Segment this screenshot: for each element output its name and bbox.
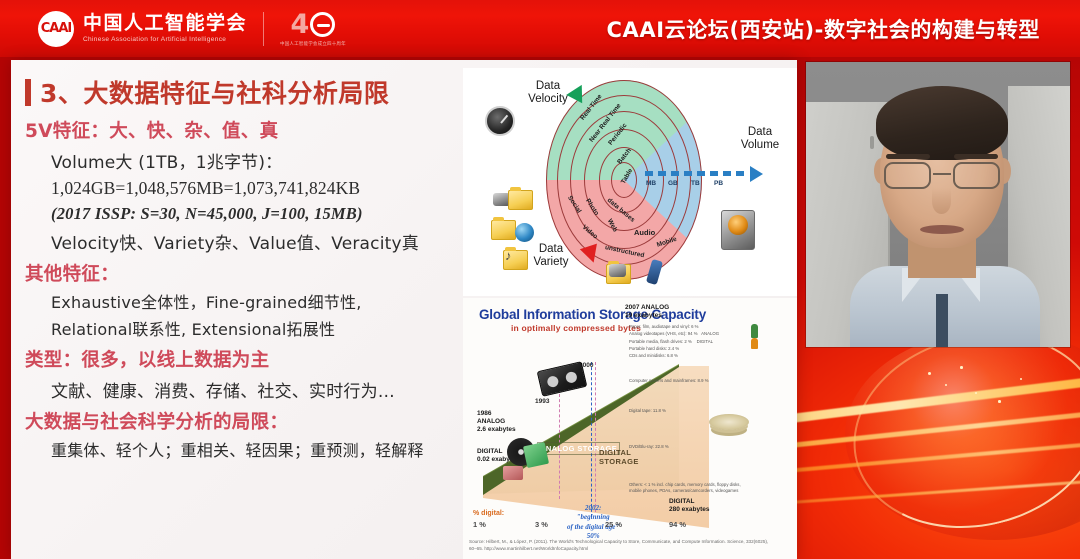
legend-item: Portable hard disks: 2.4 % (629, 346, 679, 351)
volume-dash (645, 171, 653, 176)
sparkle (1020, 378, 1022, 380)
annotation-1993: 1993 (535, 398, 549, 406)
legend-item: Portable media, flash drives: 2 % DIGITA… (629, 339, 713, 344)
sparkle (945, 384, 947, 386)
speaker-shirt-placket (936, 294, 948, 347)
speaker-glasses (882, 162, 1002, 190)
percent-value-2007: 94 % (669, 520, 686, 529)
storage-chart-title: Global Information Storage Capacity (479, 307, 706, 322)
slide-line-exhaustive: Exhaustive全体性，Fine-grained细节性, (51, 289, 457, 313)
anniversary-subtitle: 中国人工智能学会成立四十周年 (280, 41, 346, 47)
hard-disk-icon (721, 210, 755, 250)
floppy-disk-icon (523, 442, 549, 468)
percent-value-1993: 3 % (535, 520, 548, 529)
speaker-mouth (920, 225, 964, 234)
volume-tick-tb: TB (691, 180, 700, 187)
globe-icon (515, 223, 534, 242)
legend-item: Paper, film, audiotape and vinyl: 6 % (629, 324, 699, 329)
sparkle (998, 400, 1001, 403)
slide-line-bytes: 1,024GB=1,048,576MB=1,073,741,824KB (51, 178, 457, 199)
sparkle (975, 392, 977, 394)
slide-line-limits-detail: 重集体、轻个人；重相关、轻因果；重预测，轻解释 (51, 437, 457, 461)
caai-emblem-icon: CAAI (38, 11, 74, 47)
percent-value-2000: 25 % (605, 520, 622, 529)
slide-heading-5v: 5V特征：大、快、杂、值、真 (25, 117, 457, 143)
folder-icon (508, 190, 533, 210)
legend-item: Computer servers and mainframes: 8.9 % (629, 378, 709, 383)
slide-line-type-examples: 文献、健康、消费、存储、社交、实时行为… (51, 377, 457, 402)
broadcast-stage: CAAI 中国人工智能学会 Chinese Association for Ar… (0, 0, 1080, 559)
chart-source-note: Source: Hilbert, M., & López, P. (2011).… (469, 539, 769, 553)
glasses-bridge (933, 173, 951, 175)
digital-person-icon (751, 338, 758, 349)
analog-peak-marker-line (595, 362, 596, 512)
slide-line-5v-terms: Velocity快、Variety杂、Value值、Veracity真 (51, 229, 457, 254)
percent-value-1986: 1 % (473, 520, 486, 529)
volume-dash (723, 171, 731, 176)
speaker-hair (876, 86, 1008, 160)
axis-label-data-volume: DataVolume (725, 126, 795, 152)
top-header-bar: CAAI 中国人工智能学会 Chinese Association for Ar… (0, 0, 1080, 57)
storage-capacity-chart: Global Information Storage Capacity in o… (463, 298, 797, 559)
caai-logo: CAAI 中国人工智能学会 Chinese Association for Ar… (38, 8, 346, 50)
anniversary-zero-icon (310, 12, 335, 37)
volume-arrow-icon (750, 166, 763, 182)
anniversary-number: 4 (291, 11, 310, 38)
caai-logo-en: Chinese Association for Artificial Intel… (83, 37, 247, 44)
volume-tick-mb: MB (646, 180, 656, 187)
speaker-eyebrow-left (886, 154, 930, 159)
slide-graphics-column: Real Time Near Real Time Periodic Batch … (463, 60, 797, 559)
legend-item: DVD/Blu-ray: 22.8 % (629, 444, 669, 449)
annotation-2007-digital: DIGITAL280 exabytes (669, 498, 709, 514)
slide-heading-limits: 大数据与社会科学分析的局限： (25, 408, 457, 434)
annotation-2007-analog: 2007 ANALOG19 exabytes (625, 304, 669, 320)
three-v-radial-chart: Real Time Near Real Time Periodic Batch … (463, 68, 797, 296)
folder-icon (491, 220, 516, 240)
volume-dash (671, 171, 679, 176)
digital-storage-band-label: DIGITALSTORAGE (599, 448, 639, 466)
caai-logo-cn: 中国人工智能学会 (83, 14, 247, 33)
volume-dash (736, 171, 744, 176)
variety-ring-label-audio: Audio (634, 228, 655, 237)
slide-title-row: 3、大数据特征与社科分析局限 (25, 74, 457, 110)
volume-dash (710, 171, 718, 176)
volume-dash (684, 171, 692, 176)
sparkle (960, 366, 963, 369)
decorative-orb (845, 330, 1080, 540)
slide-heading-types: 类型：很多，以线上数据为主 (25, 346, 457, 372)
slide-line-relational: Relational联系性, Extensional拓展性 (51, 316, 457, 340)
legend-item: CDs and minidisks: 6.8 % (629, 353, 678, 358)
volume-tick-pb: PB (714, 180, 723, 187)
cd-stack-icon (709, 414, 749, 430)
music-note-icon: ♪ (505, 248, 512, 263)
camcorder-icon (609, 264, 626, 277)
legend-item: Others: < 1 % incl. chip cards, memory c… (629, 482, 741, 487)
speaker-video-panel[interactable] (806, 62, 1070, 347)
volume-tick-gb: GB (668, 180, 678, 187)
speedometer-icon (485, 106, 515, 136)
digital-age-marker-line (591, 362, 592, 517)
annotation-1986-analog: 1986ANALOG2.6 exabytes (477, 410, 516, 434)
media-tape-icon (503, 466, 523, 480)
speaker-eyebrow-right (954, 154, 998, 159)
axis-label-data-velocity: DataVelocity (508, 80, 588, 106)
sparkle (928, 372, 931, 375)
glasses-lens-left (884, 162, 931, 189)
percent-digital-label: % digital: (473, 510, 504, 517)
logo-divider (263, 12, 264, 46)
legend-item: Digital tape: 11.8 % (629, 408, 666, 413)
slide-heading-other-features: 其他特征： (25, 260, 457, 286)
slide-line-issp: (2017 ISSP: S=30, N=45,000, J=100, 15MB) (51, 204, 457, 224)
slide-text-column: 3、大数据特征与社科分析局限 5V特征：大、快、杂、值、真 Volume大 (1… (11, 60, 463, 559)
volume-dash (658, 171, 666, 176)
cassette-tape-icon (537, 361, 588, 397)
slide-title: 3、大数据特征与社科分析局限 (40, 74, 389, 110)
volume-dash (697, 171, 705, 176)
anniversary-mark: 4 中国人工智能学会成立四十周年 (280, 11, 346, 47)
caai-logo-text: 中国人工智能学会 Chinese Association for Artific… (83, 14, 247, 44)
legend-item: mobile phones, PDAs, cameras/camcorders,… (629, 488, 738, 493)
slide-line-volume: Volume大 (1TB，1兆字节)： (51, 148, 457, 173)
title-accent-bar (25, 79, 31, 106)
storage-chart-subtitle: in optimally compressed bytes (511, 323, 641, 333)
presentation-slide: 3、大数据特征与社科分析局限 5V特征：大、快、杂、值、真 Volume大 (1… (11, 60, 797, 559)
glasses-lens-right (953, 162, 1000, 189)
analog-person-icon (751, 324, 758, 338)
forum-title: CAAI云论坛(西安站)-数字社会的构建与转型 (607, 14, 1040, 44)
speaker-nose (932, 188, 951, 214)
legend-item: Analog videotapes (VHS, etc): 94 % ANALO… (629, 331, 719, 336)
